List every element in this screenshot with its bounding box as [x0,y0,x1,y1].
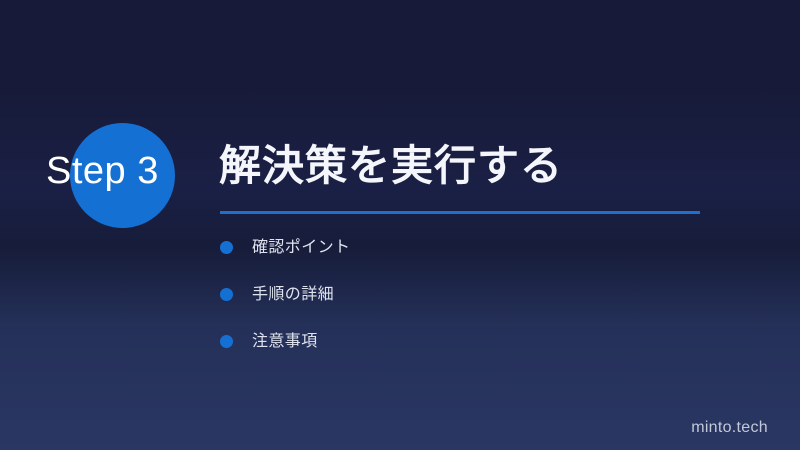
page-title: 解決策を実行する [219,145,563,187]
list-item-label: 注意事項 [252,332,318,351]
list-item: 注意事項 [220,332,350,351]
bullet-dot-icon [220,241,233,254]
bullet-list: 確認ポイント 手順の詳細 注意事項 [220,238,350,351]
footer-brand: minto.tech [691,420,768,436]
presentation-slide: Step 3 解決策を実行する 確認ポイント 手順の詳細 注意事項 minto.… [0,0,800,450]
bullet-dot-icon [220,288,233,301]
list-item: 確認ポイント [220,238,350,257]
step-label: Step 3 [46,152,159,190]
title-divider [220,211,700,214]
bullet-dot-icon [220,335,233,348]
list-item-label: 確認ポイント [252,238,350,257]
list-item: 手順の詳細 [220,285,350,304]
list-item-label: 手順の詳細 [252,285,334,304]
